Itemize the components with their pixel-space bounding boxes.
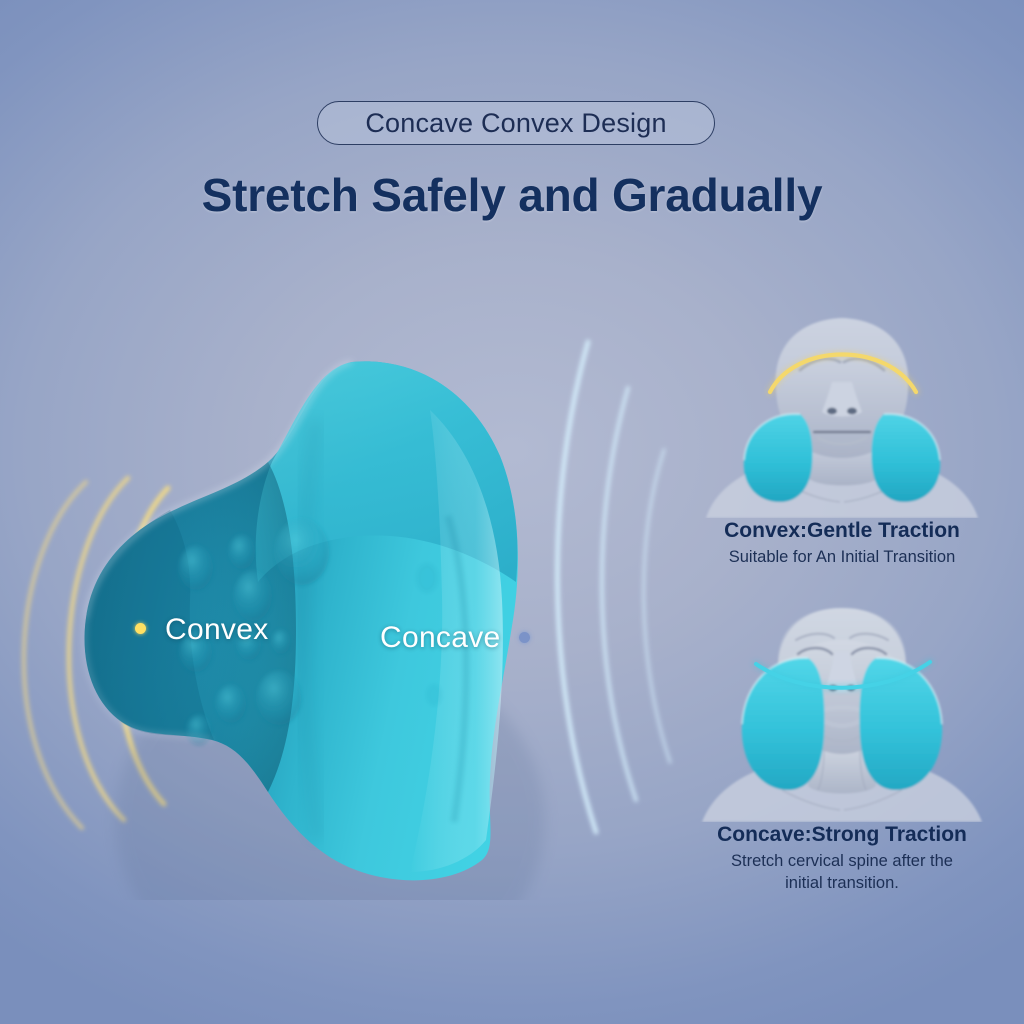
infographic-canvas: Concave Convex Design Stretch Safely and… <box>0 0 1024 1024</box>
blue-arc-waves-icon <box>557 342 670 832</box>
page-title: Stretch Safely and Gradually <box>0 168 1024 222</box>
convex-label: Convex <box>165 613 269 647</box>
concave-label: Concave <box>380 621 501 655</box>
usecase-convex-subtitle: Suitable for An Initial Transition <box>672 547 1012 569</box>
convex-dot-marker <box>135 623 146 634</box>
usecase-convex: Convex:Gentle Traction Suitable for An I… <box>672 296 1012 569</box>
usecase-convex-caption: Convex:Gentle Traction Suitable for An I… <box>672 518 1012 569</box>
usecase-concave-subtitle-line1: Stretch cervical spine after the <box>672 851 1012 873</box>
section-tag-pill: Concave Convex Design <box>317 101 715 145</box>
head-neck-concave-traction-illustration <box>672 600 1012 822</box>
section-tag-label: Concave Convex Design <box>365 110 666 137</box>
usecase-concave-title: Concave:Strong Traction <box>672 822 1012 847</box>
product-illustration-area <box>0 300 680 900</box>
concave-dot-marker <box>519 632 530 643</box>
pillow-illustration-svg <box>0 300 680 900</box>
usecase-concave-subtitle-line2: initial transition. <box>672 873 1012 895</box>
usecase-concave-caption: Concave:Strong Traction Stretch cervical… <box>672 822 1012 895</box>
head-neck-convex-traction-illustration <box>672 296 1012 518</box>
usecase-concave: Concave:Strong Traction Stretch cervical… <box>672 600 1012 895</box>
usecase-convex-title: Convex:Gentle Traction <box>672 518 1012 543</box>
